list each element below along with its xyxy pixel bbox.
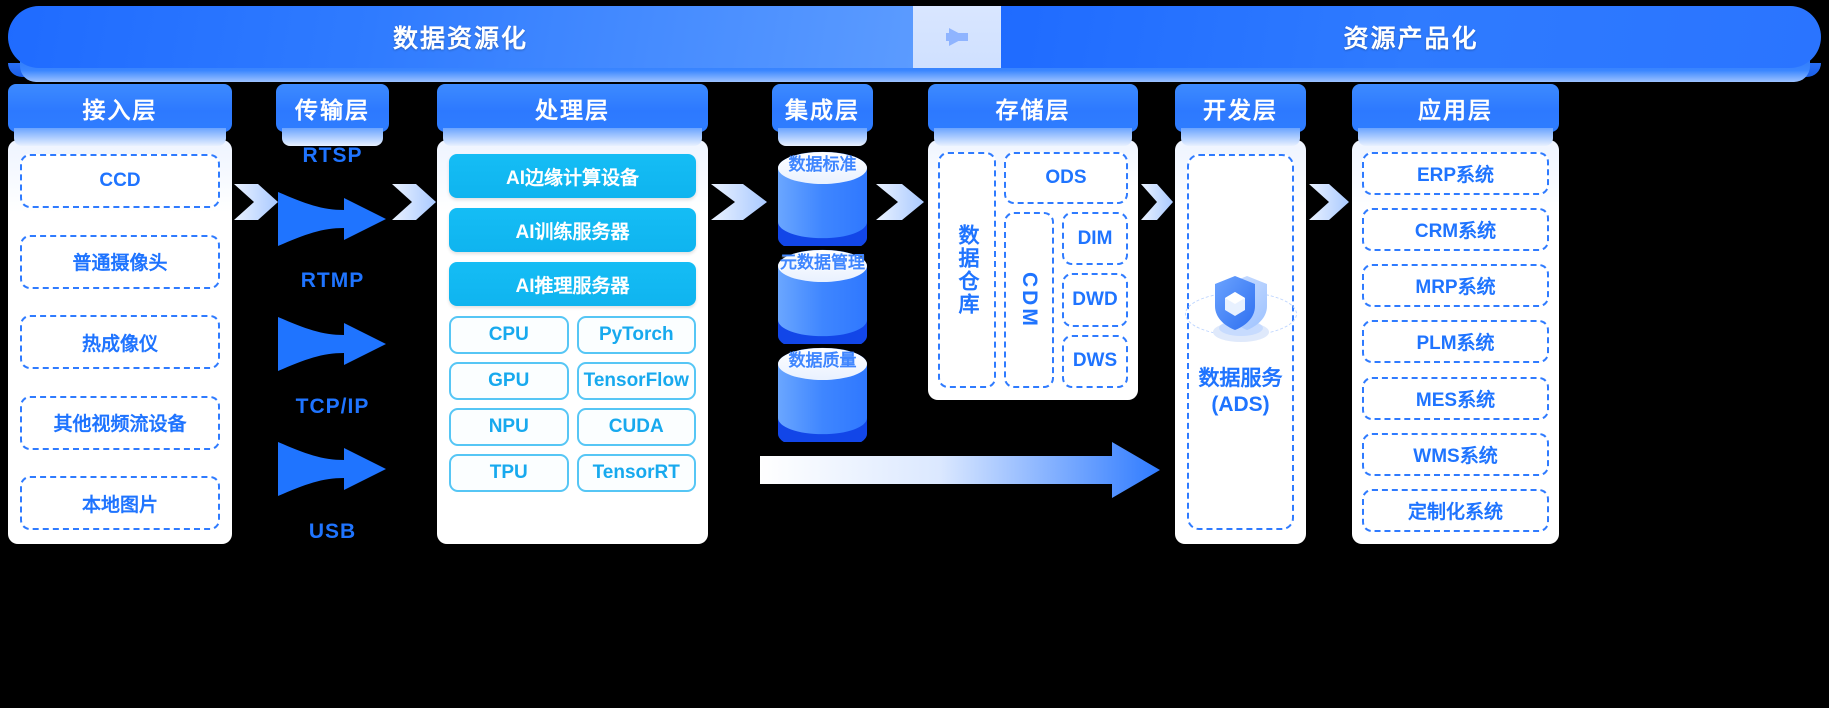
- layers-container: 接入层 CCD 普通摄像头 热成像仪 其他视频流设备 本地图片 传输层 RTSP…: [0, 84, 1829, 708]
- sweep-arrow-rtmp: [276, 315, 389, 373]
- chevron-development-to-application: [1307, 180, 1351, 224]
- processing-server-edge[interactable]: AI边缘计算设备: [449, 154, 696, 198]
- storage-data-warehouse[interactable]: 数据仓库: [938, 152, 996, 388]
- processing-server-training[interactable]: AI训练服务器: [449, 208, 696, 252]
- chevron-integration-to-storage: [874, 180, 926, 224]
- processing-tech-grid: CPU PyTorch GPU TensorFlow NPU CUDA TPU …: [449, 316, 696, 492]
- banner-left-label: 数据资源化: [393, 19, 528, 55]
- processing-server-inference[interactable]: AI推理服务器: [449, 262, 696, 306]
- layer-title-application: 应用层: [1352, 84, 1559, 132]
- sweep-arrow-tcpip: [276, 440, 389, 498]
- access-item-thermal[interactable]: 热成像仪: [20, 315, 220, 369]
- application-item-custom[interactable]: 定制化系统: [1362, 489, 1549, 532]
- cylinder-label-metadata-management: 元数据管理: [772, 248, 873, 273]
- cylinder-data-quality[interactable]: 数据质量: [772, 338, 873, 442]
- application-item-wms[interactable]: WMS系统: [1362, 433, 1549, 476]
- access-item-other-stream[interactable]: 其他视频流设备: [20, 396, 220, 450]
- layer-title-access: 接入层: [8, 84, 232, 132]
- access-item-camera[interactable]: 普通摄像头: [20, 235, 220, 289]
- processing-fw-tensorflow[interactable]: TensorFlow: [577, 362, 697, 400]
- layer-column-processing: 处理层 AI边缘计算设备 AI训练服务器 AI推理服务器 CPU PyTorch…: [437, 84, 708, 544]
- layer-title-processing: 处理层: [437, 84, 708, 132]
- sweep-arrow-rtsp: [276, 190, 389, 248]
- layer-body-processing: AI边缘计算设备 AI训练服务器 AI推理服务器 CPU PyTorch GPU…: [437, 140, 708, 544]
- access-item-local-image[interactable]: 本地图片: [20, 476, 220, 530]
- protocol-label-rtsp: RTSP: [276, 144, 389, 168]
- banner-data-resourcing: 数据资源化: [8, 6, 913, 68]
- application-item-mes[interactable]: MES系统: [1362, 377, 1549, 420]
- application-item-plm[interactable]: PLM系统: [1362, 320, 1549, 363]
- layer-body-storage: 数据仓库 ODS CDM DIM DWD DWS: [928, 140, 1138, 400]
- storage-dws[interactable]: DWS: [1062, 335, 1128, 388]
- banner-transition-arrow: [913, 6, 1001, 68]
- protocol-label-rtmp: RTMP: [276, 269, 389, 293]
- chevron-storage-to-development: [1139, 180, 1175, 224]
- processing-hw-tpu[interactable]: TPU: [449, 454, 569, 492]
- layer-column-application: 应用层 ERP系统 CRM系统 MRP系统 PLM系统 MES系统 WMS系统 …: [1352, 84, 1559, 544]
- top-banner-row: 数据资源化 资源产品化: [8, 6, 1821, 68]
- chevron-access-to-transmission: [232, 180, 280, 224]
- application-item-erp[interactable]: ERP系统: [1362, 152, 1549, 195]
- banner-right-label: 资源产品化: [1343, 19, 1478, 55]
- processing-fw-cuda[interactable]: CUDA: [577, 408, 697, 446]
- layer-title-transmission: 传输层: [276, 84, 389, 132]
- protocol-label-tcpip: TCP/IP: [276, 395, 389, 419]
- development-data-service-card[interactable]: 数据服务 (ADS): [1187, 154, 1294, 530]
- cylinder-label-data-standard: 数据标准: [772, 150, 873, 175]
- layer-body-transmission: RTSP RTMP TCP/IP USB: [276, 144, 389, 544]
- storage-dwd[interactable]: DWD: [1062, 273, 1128, 326]
- shield-cube-icon: [1185, 266, 1297, 352]
- development-service-label: 数据服务 (ADS): [1199, 366, 1283, 419]
- storage-ods[interactable]: ODS: [1004, 152, 1128, 204]
- cylinder-data-standard[interactable]: 数据标准: [772, 142, 873, 246]
- processing-hw-cpu[interactable]: CPU: [449, 316, 569, 354]
- layer-column-storage: 存储层 数据仓库 ODS CDM DIM DWD DWS: [928, 84, 1138, 400]
- layer-column-access: 接入层 CCD 普通摄像头 热成像仪 其他视频流设备 本地图片: [8, 84, 232, 544]
- layer-title-storage: 存储层: [928, 84, 1138, 132]
- processing-fw-tensorrt[interactable]: TensorRT: [577, 454, 697, 492]
- layer-body-development: 数据服务 (ADS): [1175, 140, 1306, 544]
- development-service-line1: 数据服务: [1199, 367, 1283, 390]
- layer-body-access: CCD 普通摄像头 热成像仪 其他视频流设备 本地图片: [8, 140, 232, 544]
- right-arrow-icon: [949, 28, 966, 46]
- protocol-label-usb: USB: [276, 520, 389, 544]
- cylinder-metadata-management[interactable]: 元数据管理: [772, 240, 873, 344]
- access-item-ccd[interactable]: CCD: [20, 154, 220, 208]
- bottom-flow-arrow: [760, 442, 1160, 498]
- storage-cdm[interactable]: CDM: [1004, 212, 1054, 388]
- chevron-processing-to-integration: [709, 180, 769, 224]
- layer-body-integration: 数据标准 元数据管理 数据质量: [772, 142, 873, 442]
- development-service-line2: (ADS): [1211, 393, 1269, 416]
- layer-column-transmission: 传输层 RTSP RTMP TCP/IP USB: [276, 84, 389, 544]
- layer-column-development: 开发层: [1175, 84, 1306, 544]
- application-item-crm[interactable]: CRM系统: [1362, 208, 1549, 251]
- processing-fw-pytorch[interactable]: PyTorch: [577, 316, 697, 354]
- layer-title-development: 开发层: [1175, 84, 1306, 132]
- application-item-mrp[interactable]: MRP系统: [1362, 264, 1549, 307]
- layer-column-integration: 集成层 数据标准: [772, 84, 873, 442]
- processing-hw-gpu[interactable]: GPU: [449, 362, 569, 400]
- banner-resource-productization: 资源产品化: [1001, 6, 1821, 68]
- layer-title-integration: 集成层: [772, 84, 873, 132]
- cylinder-label-data-quality: 数据质量: [772, 346, 873, 371]
- layer-body-application: ERP系统 CRM系统 MRP系统 PLM系统 MES系统 WMS系统 定制化系…: [1352, 140, 1559, 544]
- processing-hw-npu[interactable]: NPU: [449, 408, 569, 446]
- chevron-transmission-to-processing: [390, 180, 438, 224]
- storage-dim[interactable]: DIM: [1062, 212, 1128, 265]
